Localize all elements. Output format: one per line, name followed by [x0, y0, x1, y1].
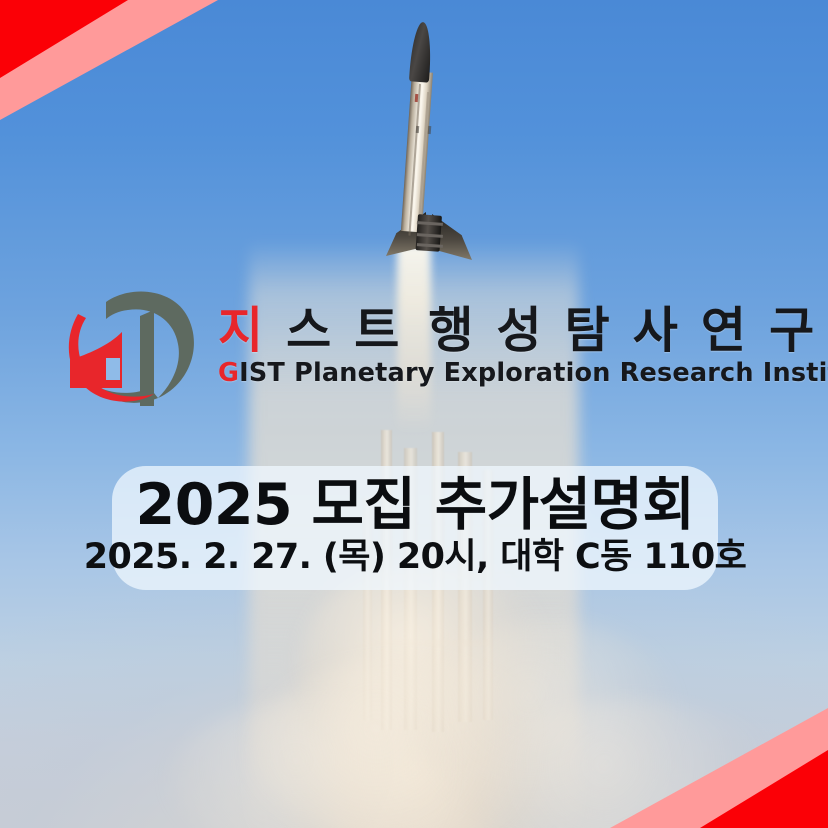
title-card: 2025 모집 추가설명회 2025. 2. 27. (목) 20시, 대학 C…	[112, 466, 718, 590]
event-details: 2025. 2. 27. (목) 20시, 대학 C동 110호	[84, 538, 746, 577]
logo-korean-name: 지 스 트행 성 탐 사 연 구 소	[218, 306, 828, 357]
logo-english-highlight: G	[218, 358, 239, 388]
logo-korean-highlight: 지	[218, 302, 266, 359]
poster-canvas: 지 스 트행 성 탐 사 연 구 소 GIST Planetary Explor…	[0, 0, 828, 828]
logo-korean-second: 행 성 탐 사 연 구 소	[428, 302, 828, 359]
logo-korean-rest: 스 트	[266, 302, 402, 359]
page-title: 2025 모집 추가설명회	[136, 475, 695, 535]
institute-logo: 지 스 트행 성 탐 사 연 구 소 GIST Planetary Explor…	[62, 288, 778, 406]
logo-english-name: GIST Planetary Exploration Research Inst…	[218, 358, 828, 388]
gist-peri-logo-icon	[62, 288, 210, 406]
rocket-icon	[394, 22, 454, 260]
logo-english-rest: IST Planetary Exploration Research Insti…	[239, 358, 828, 388]
